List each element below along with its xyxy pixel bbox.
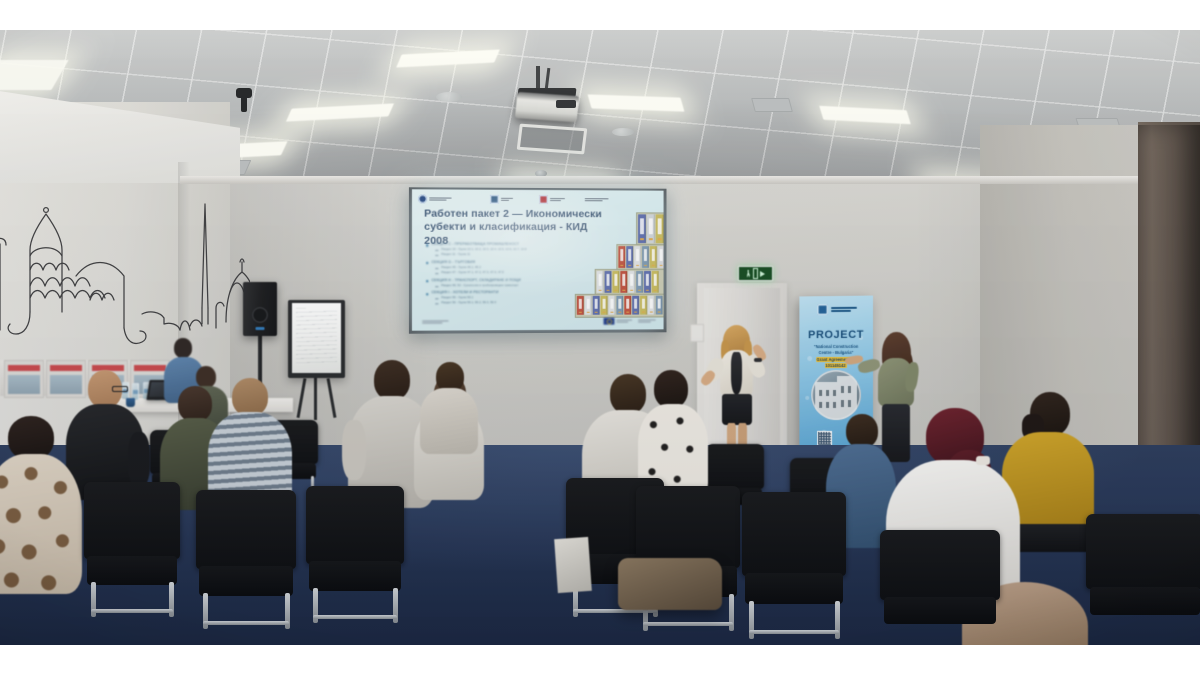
ceiling-camera-arm (241, 96, 247, 112)
ceiling-air-vent (751, 98, 793, 112)
speaker-brand-badge (256, 327, 265, 330)
attendee-hair-clip (976, 456, 990, 465)
building-window (841, 400, 844, 407)
attendee-blouse-pattern (0, 454, 82, 594)
building-window (819, 402, 822, 408)
chair-crossbar (91, 609, 174, 613)
projector-mount-pole (536, 66, 540, 90)
attendee-head (232, 378, 268, 416)
building-window (848, 400, 851, 407)
chair[interactable] (306, 486, 404, 620)
arrow-right-icon (760, 271, 765, 277)
chair-seat (1090, 587, 1200, 616)
exit-sign (738, 266, 773, 281)
flipchart-leg (314, 376, 317, 420)
wall-ceiling-cornice (180, 176, 1200, 184)
attendee-arm (128, 432, 150, 488)
attendee-head (374, 360, 410, 400)
chair[interactable] (880, 530, 1000, 645)
chair[interactable] (84, 482, 180, 614)
speaker-driver-icon (252, 307, 268, 323)
handout-papers (554, 537, 592, 593)
pa-loudspeaker (243, 282, 277, 336)
chair-seat (884, 597, 997, 623)
chair[interactable] (742, 492, 846, 636)
projected-slide[interactable]: Работен пакет 2 — Икономически субекти и… (412, 189, 664, 330)
chair-crossbar (749, 630, 838, 634)
banner-bubble-decor (805, 396, 809, 400)
presenter-woman-blonde (705, 328, 769, 458)
projector-cable-tray (517, 124, 588, 155)
presenter-wristwatch (754, 358, 762, 362)
chair-seat (745, 573, 843, 605)
floor-bag (618, 558, 722, 610)
presenter-inner-top (731, 352, 742, 394)
attendee-shirt (420, 388, 478, 454)
chair-back (84, 482, 180, 559)
building-window (833, 390, 836, 396)
project-consortium-logo (817, 304, 857, 315)
chair-back (306, 486, 404, 564)
historic-building-photo (811, 370, 861, 420)
wall-poster (4, 360, 44, 398)
chair-seat (87, 556, 177, 585)
attendee-collared-shirt (418, 362, 480, 458)
attendee-arm (342, 420, 366, 480)
attendee-head (174, 338, 192, 358)
chair-back (1086, 514, 1200, 589)
consortium-wordmark (831, 307, 857, 311)
chair-crossbar (313, 615, 397, 619)
slide-projection-glow (412, 189, 664, 330)
running-man-icon (747, 270, 751, 278)
building-window (833, 402, 836, 408)
chair[interactable] (196, 490, 296, 626)
chair-back (196, 490, 296, 569)
building-window (841, 386, 844, 393)
chair[interactable] (1086, 514, 1200, 644)
consortium-emblem-icon (817, 304, 828, 315)
letterbox-bottom (0, 645, 1200, 675)
chair-back (706, 444, 764, 489)
attendee-leopard-print (0, 416, 84, 606)
flipchart-ruled-lines (296, 308, 337, 365)
building-window (826, 390, 829, 396)
building-window (826, 402, 829, 408)
conference-room-photograph: Работен пакет 2 — Икономически субекти и… (0, 30, 1200, 645)
wall-information-plate (690, 324, 704, 342)
ceiling-speaker-dome (436, 92, 462, 102)
screenshot-root: Работен пакет 2 — Икономически субекти и… (0, 0, 1200, 675)
building-window (819, 390, 822, 396)
chair-back (742, 492, 846, 576)
chair-back (880, 530, 1000, 600)
chair-seat (199, 566, 293, 596)
letterbox-top (0, 0, 1200, 30)
chair-crossbar (203, 621, 289, 625)
presenter-skirt (722, 394, 752, 425)
door-icon (753, 268, 758, 279)
chair-seat (309, 561, 401, 590)
chair-back (636, 486, 740, 568)
flipchart-paper (292, 303, 341, 373)
banner-title: PROJECT (799, 329, 873, 341)
city-skyline-line-drawing-mural (0, 180, 250, 380)
chair-crossbar (643, 622, 732, 626)
ceiling-speaker-dome (612, 128, 634, 136)
projector-lens-housing (556, 100, 576, 108)
attendee-head (654, 370, 688, 408)
building-window (848, 386, 851, 393)
attendee-glasses-icon (112, 386, 128, 392)
attendee-head (846, 414, 878, 448)
